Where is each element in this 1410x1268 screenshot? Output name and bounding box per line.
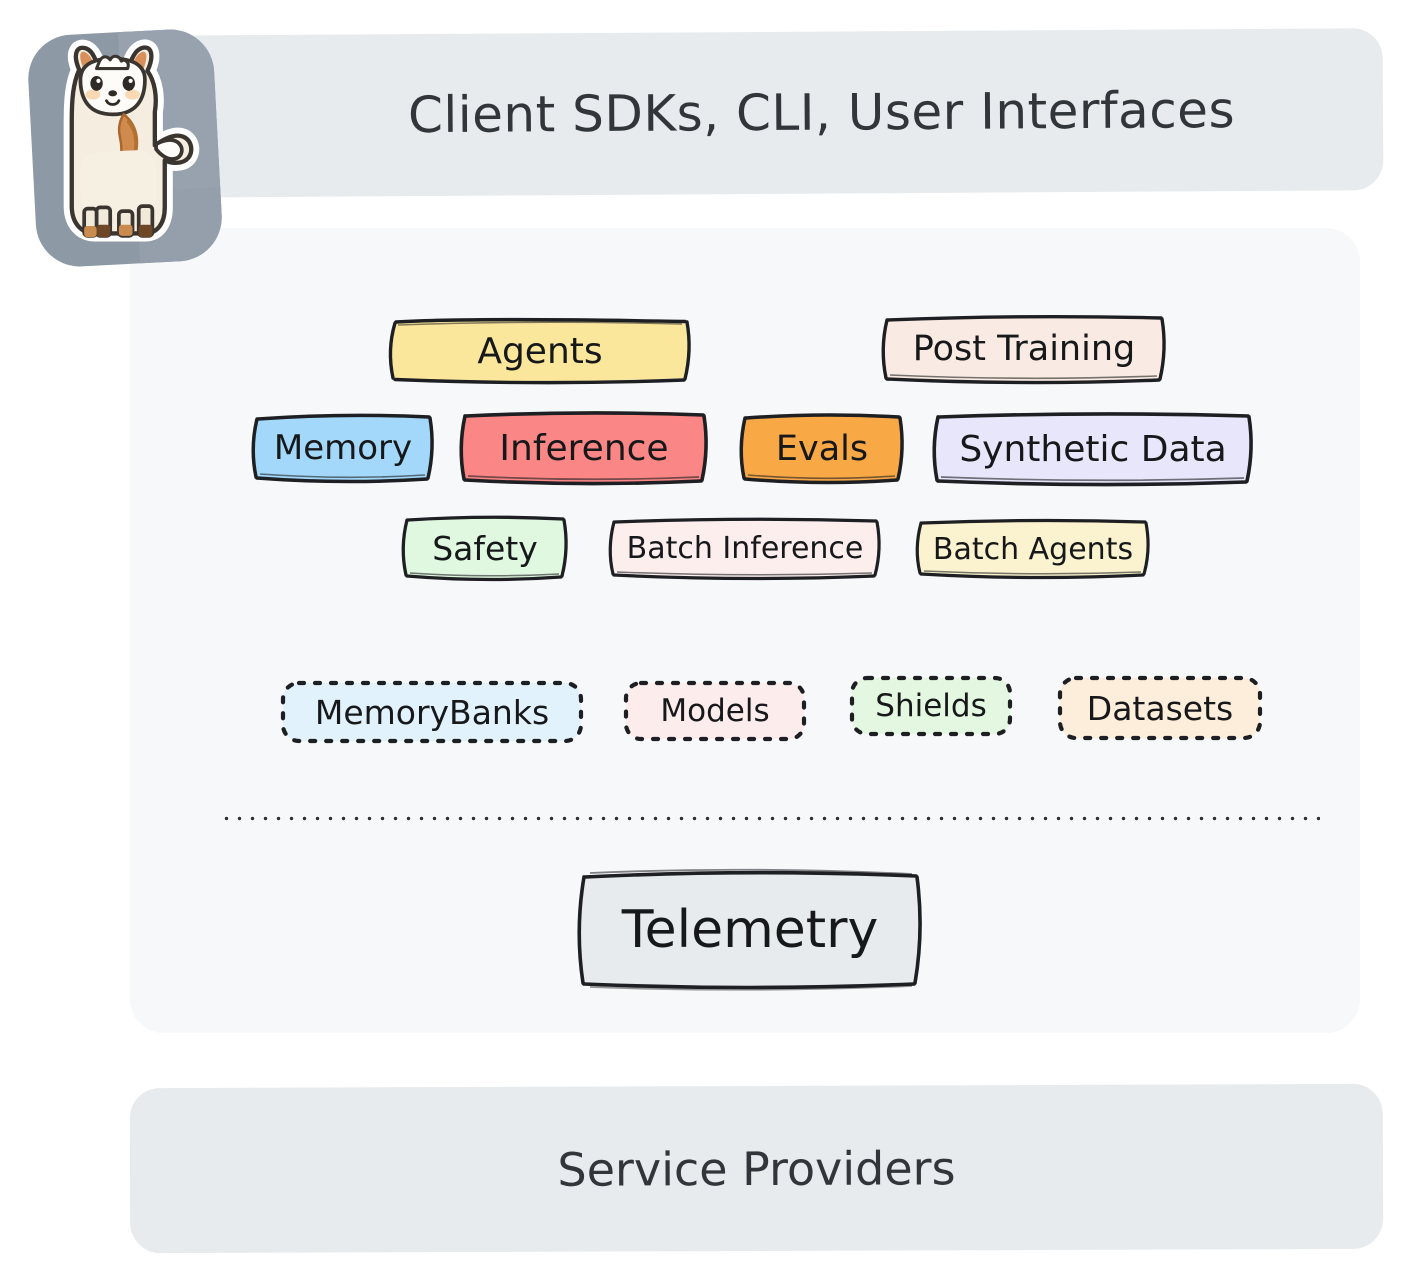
api-box-post-training[interactable]: Post Training	[879, 313, 1169, 385]
header-panel: Client SDKs, CLI, User Interfaces	[130, 28, 1384, 198]
resource-box-shields[interactable]: Shields	[846, 673, 1016, 739]
resource-box-models[interactable]: Models	[620, 678, 810, 744]
resource-box-memorybanks[interactable]: MemoryBanks	[277, 678, 587, 746]
api-box-batch-agents[interactable]: Batch Agents	[913, 518, 1153, 580]
diagram-canvas: Client SDKs, CLI, User Interfaces	[0, 0, 1410, 1268]
telemetry-box[interactable]: Telemetry	[570, 866, 930, 994]
llama-logo	[24, 22, 242, 274]
api-box-evals[interactable]: Evals	[737, 412, 907, 485]
resource-box-datasets[interactable]: Datasets	[1054, 673, 1266, 743]
api-box-batch-inference[interactable]: Batch Inference	[606, 516, 884, 581]
footer-panel: Service Providers	[130, 1084, 1384, 1253]
api-box-memory[interactable]: Memory	[249, 412, 437, 484]
api-box-synthetic-data[interactable]: Synthetic Data	[929, 411, 1257, 487]
api-box-agents[interactable]: Agents	[385, 317, 695, 385]
header-title: Client SDKs, CLI, User Interfaces	[278, 81, 1235, 145]
api-box-inference[interactable]: Inference	[456, 410, 712, 486]
dotted-divider	[220, 816, 1320, 821]
api-box-safety[interactable]: Safety	[399, 514, 571, 582]
footer-title: Service Providers	[557, 1141, 955, 1196]
